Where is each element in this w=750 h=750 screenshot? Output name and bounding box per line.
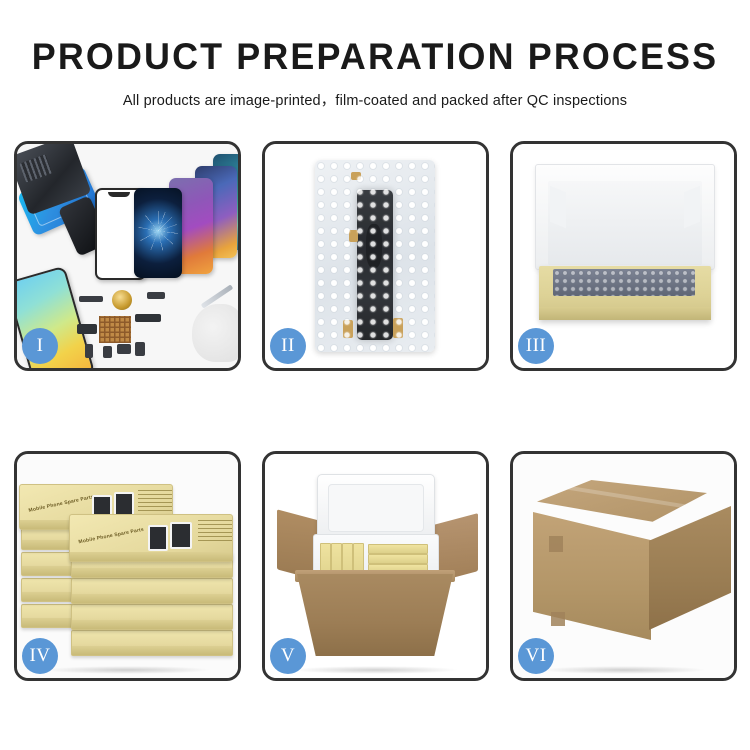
ribbon-cable-part bbox=[135, 314, 161, 322]
step-badge-3: III bbox=[518, 328, 554, 364]
step-badge-4: IV bbox=[22, 638, 58, 674]
stacked-box-right-5 bbox=[71, 630, 233, 656]
process-steps-grid: I II bbox=[14, 141, 736, 681]
step-badge-2: II bbox=[270, 328, 306, 364]
box-window-right-2 bbox=[170, 522, 192, 549]
box-label-right: Mobile Phone Spare Parts bbox=[78, 527, 144, 546]
carton-tape-upper bbox=[549, 536, 563, 552]
inner-yellow-box-6 bbox=[368, 554, 428, 564]
process-step-panel-3: III bbox=[510, 141, 737, 371]
carton-side-face bbox=[649, 506, 731, 630]
process-step-panel-1: I bbox=[14, 141, 241, 371]
header: PRODUCT PREPARATION PROCESS All products… bbox=[0, 0, 750, 110]
stacked-box-right-4 bbox=[71, 604, 233, 630]
box-spec-text-right bbox=[198, 520, 232, 542]
chip-part bbox=[79, 296, 103, 302]
hand-illustration bbox=[192, 304, 238, 362]
tape-top bbox=[351, 172, 361, 180]
box-window-right-1 bbox=[148, 525, 168, 551]
small-component-4 bbox=[85, 344, 93, 358]
connector-part bbox=[147, 292, 165, 299]
foam-lid-inner bbox=[548, 181, 702, 265]
carton-tape-lower bbox=[551, 612, 565, 626]
step-badge-6: VI bbox=[518, 638, 554, 674]
phone-nebula-screen bbox=[134, 188, 182, 278]
process-step-panel-5: V bbox=[262, 451, 489, 681]
step-badge-1: I bbox=[22, 328, 58, 364]
copper-mesh-part bbox=[99, 316, 131, 343]
gold-coil-part bbox=[112, 290, 132, 310]
flex-cable-part bbox=[77, 324, 97, 334]
process-step-panel-2: II bbox=[262, 141, 489, 371]
bubble-wrapped-contents bbox=[553, 269, 695, 296]
lid-flap-right bbox=[684, 186, 700, 228]
styrofoam-lid bbox=[317, 474, 435, 542]
tape-middle bbox=[349, 230, 358, 242]
small-component-1 bbox=[103, 346, 112, 358]
box-label-left: Mobile Phone Spare Parts bbox=[28, 494, 94, 514]
box-spec-text-left bbox=[138, 490, 172, 512]
page-subtitle: All products are image-printed，film-coat… bbox=[0, 89, 750, 110]
tape-bottom-left bbox=[343, 320, 353, 338]
stacked-box-right-3 bbox=[71, 578, 233, 604]
box-front-lip bbox=[539, 307, 711, 320]
foam-lid-panel bbox=[535, 164, 715, 270]
process-step-panel-6: VI bbox=[510, 451, 737, 681]
carton-shadow-6 bbox=[540, 666, 708, 674]
page-title: PRODUCT PREPARATION PROCESS bbox=[11, 38, 739, 75]
bubble-wrap-bag bbox=[315, 160, 435, 352]
inner-yellow-box-5 bbox=[368, 544, 428, 554]
process-step-panel-4: Mobile Phone Spare Parts Mobile Phone Sp… bbox=[14, 451, 241, 681]
carton-shadow bbox=[292, 666, 460, 674]
small-component-2 bbox=[117, 344, 131, 354]
yellow-inner-box bbox=[539, 266, 711, 320]
stack-shadow bbox=[44, 666, 212, 674]
tape-bottom-right bbox=[393, 318, 403, 338]
lid-flap-left bbox=[550, 186, 566, 228]
stacked-box-right-top: Mobile Phone Spare Parts bbox=[69, 514, 233, 562]
product-preparation-infographic: PRODUCT PREPARATION PROCESS All products… bbox=[0, 0, 750, 750]
step-badge-5: V bbox=[270, 638, 306, 674]
small-component-3 bbox=[135, 342, 145, 356]
wrapped-phone-part bbox=[357, 190, 393, 340]
carton-body bbox=[297, 574, 453, 656]
